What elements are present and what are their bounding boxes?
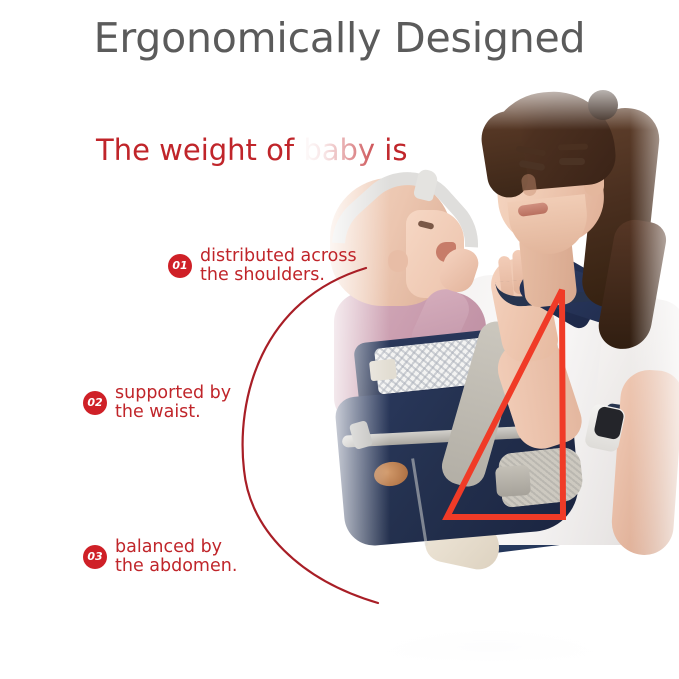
callout-text-03: balanced by the abdomen. — [115, 538, 237, 576]
callout-02: 02 supported by the waist. — [83, 384, 231, 422]
photo-fade-left — [300, 70, 390, 679]
callout-badge-03: 03 — [83, 545, 107, 569]
callout-03: 03 balanced by the abdomen. — [83, 538, 237, 576]
photo-fade-bottom — [300, 590, 679, 679]
callout-badge-01: 01 — [168, 254, 192, 278]
callout-text-01: distributed across the shoulders. — [200, 247, 357, 285]
callout-text-02: supported by the waist. — [115, 384, 231, 422]
photo-fade-top — [300, 70, 679, 130]
callout-badge-02: 02 — [83, 391, 107, 415]
product-infographic: Ergonomically Designed The weight of bab… — [0, 0, 679, 679]
carrier-buckle — [495, 465, 531, 497]
eye-right — [559, 158, 585, 165]
page-title: Ergonomically Designed — [0, 14, 679, 62]
callout-01: 01 distributed across the shoulders. — [168, 247, 357, 285]
photo-fade-right — [630, 70, 679, 679]
eyebrow-right — [558, 143, 588, 150]
product-photo — [300, 70, 679, 679]
